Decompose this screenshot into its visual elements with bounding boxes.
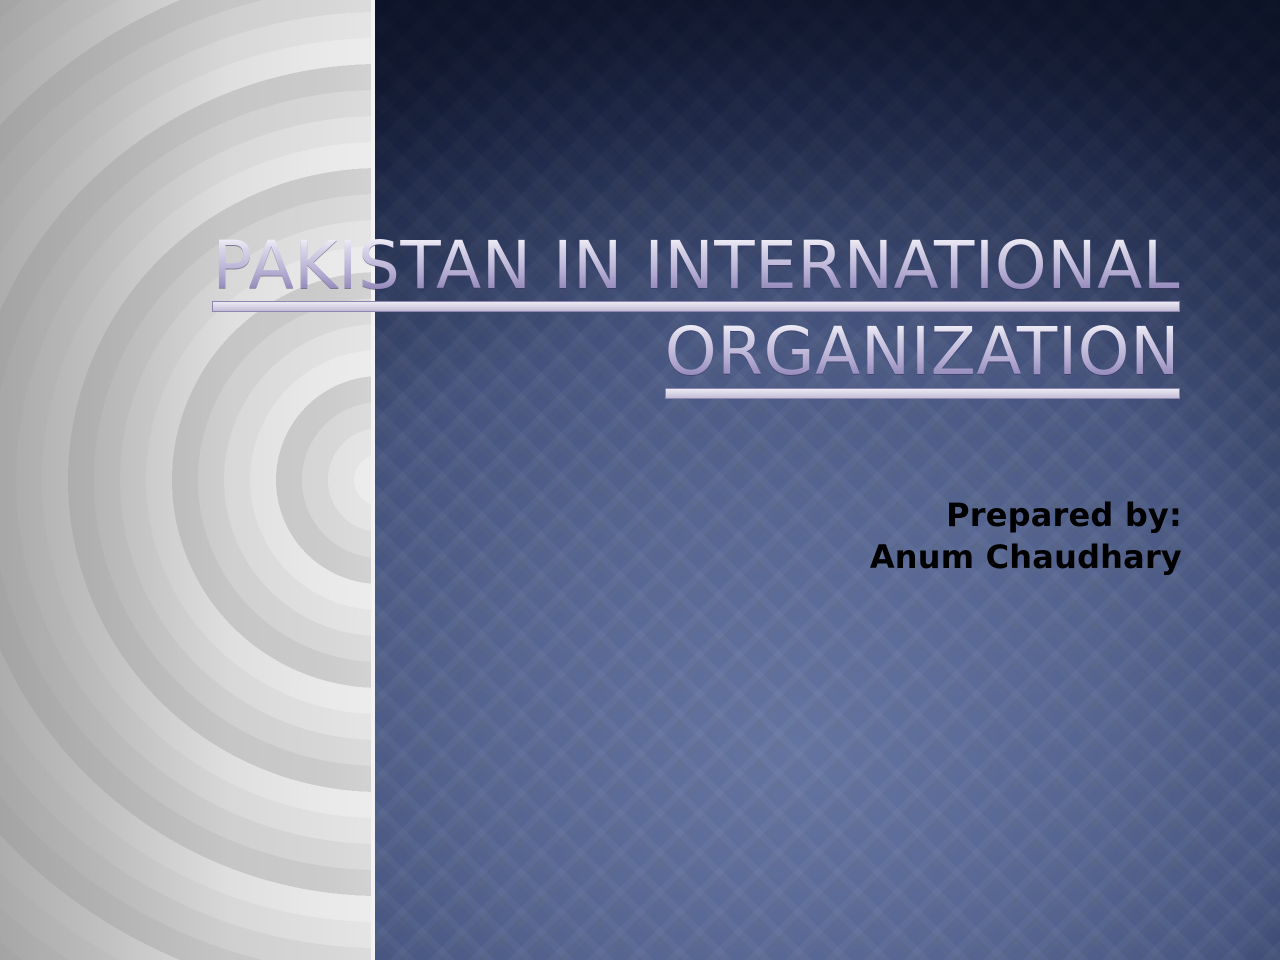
sidebar-shading-overlay: [0, 0, 371, 960]
page-title: Pakistan in International Organization: [140, 232, 1180, 399]
subtitle-prepared-by-label: Prepared by:: [870, 495, 1182, 537]
title-slide: Pakistan in International Organization P…: [0, 0, 1280, 960]
sidebar-divider: [371, 0, 375, 960]
sidebar-grey-arc-panel: [0, 0, 371, 960]
title-line-2: Organization: [665, 318, 1180, 385]
subtitle: Prepared by: Anum Chaudhary: [870, 495, 1182, 578]
subtitle-author-name: Anum Chaudhary: [870, 537, 1182, 579]
title-line-1: Pakistan in International: [212, 232, 1180, 299]
title-line-2-wrapper: Organization: [140, 318, 1180, 398]
title-line-1-wrapper: Pakistan in International: [140, 232, 1180, 312]
